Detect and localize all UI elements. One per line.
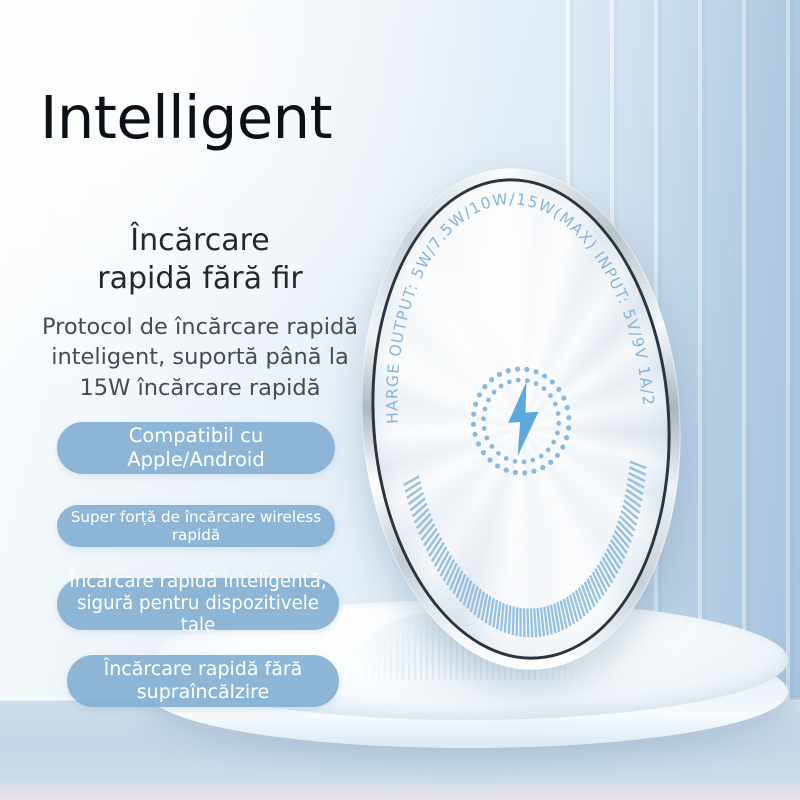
feature-pill-compatibility[interactable]: Compatibil cu Apple/Android (57, 422, 335, 474)
charger-face: FAST WIRELESS CHARGE OUTPUT: 5W/7.5W/10W… (359, 171, 683, 666)
feature-pill-no-overheat[interactable]: Încărcare rapidă fără supraîncălzire (67, 655, 339, 707)
page-title: Intelligent (40, 88, 332, 147)
feature-pill-safety[interactable]: Încărcare rapidă inteligentă, sigură pen… (57, 578, 339, 630)
lightning-bolt-icon (493, 378, 552, 460)
body-description: Protocol de încărcare rapidă inteligent,… (0, 312, 400, 403)
subheading: Încărcare rapidă fără fir (0, 222, 400, 299)
feature-pill-power[interactable]: Super forță de încărcare wireless rapidă (57, 505, 335, 547)
product-advertisement-page: FAST WIRELESS CHARGE OUTPUT: 5W/7.5W/10W… (0, 0, 800, 800)
background-bottom-tint (0, 780, 800, 800)
